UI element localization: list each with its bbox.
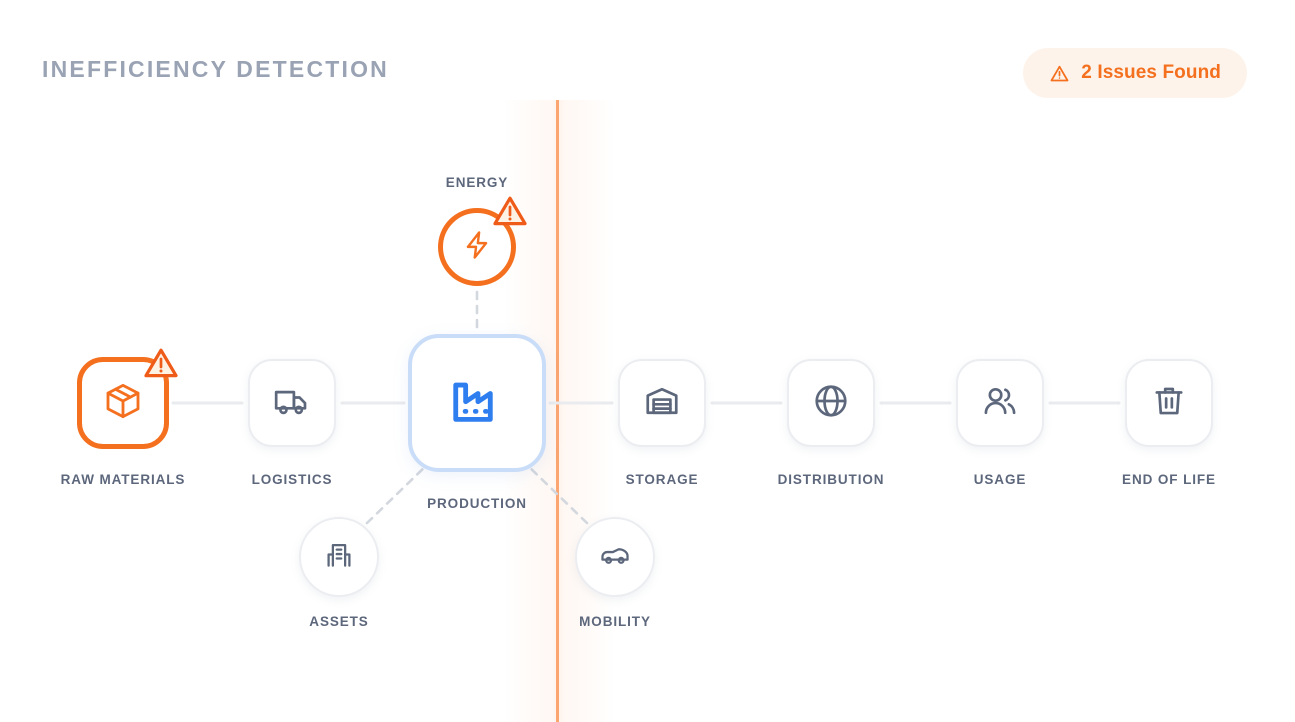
node-label-storage: STORAGE bbox=[626, 472, 699, 487]
node-assets[interactable] bbox=[299, 517, 379, 597]
car-icon bbox=[599, 539, 631, 576]
node-usage[interactable] bbox=[956, 359, 1044, 447]
node-label-usage: USAGE bbox=[974, 472, 1027, 487]
node-storage[interactable] bbox=[618, 359, 706, 447]
node-end-of-life[interactable] bbox=[1125, 359, 1213, 447]
globe-icon bbox=[812, 382, 850, 425]
lifecycle-flow-diagram: RAW MATERIALS LOGISTICS PRODUCTION bbox=[0, 0, 1295, 722]
node-distribution[interactable] bbox=[787, 359, 875, 447]
truck-icon bbox=[273, 382, 311, 425]
node-label-production: PRODUCTION bbox=[427, 496, 527, 511]
node-label-distribution: DISTRIBUTION bbox=[778, 472, 885, 487]
trash-icon bbox=[1150, 382, 1188, 425]
node-label-assets: ASSETS bbox=[309, 614, 368, 629]
node-label-logistics: LOGISTICS bbox=[252, 472, 333, 487]
warehouse-icon bbox=[643, 382, 681, 425]
node-label-end-of-life: END OF LIFE bbox=[1122, 472, 1216, 487]
factory-icon bbox=[448, 372, 506, 435]
node-label-energy: ENERGY bbox=[446, 175, 508, 190]
node-label-raw-materials: RAW MATERIALS bbox=[61, 472, 186, 487]
building-icon bbox=[323, 539, 355, 576]
node-production[interactable] bbox=[408, 334, 546, 472]
warning-badge-raw-materials bbox=[144, 348, 178, 379]
box-icon bbox=[103, 381, 143, 426]
node-label-mobility: MOBILITY bbox=[579, 614, 651, 629]
node-mobility[interactable] bbox=[575, 517, 655, 597]
bolt-icon bbox=[461, 229, 493, 266]
users-icon bbox=[981, 382, 1019, 425]
node-logistics[interactable] bbox=[248, 359, 336, 447]
warning-badge-energy bbox=[493, 196, 527, 227]
